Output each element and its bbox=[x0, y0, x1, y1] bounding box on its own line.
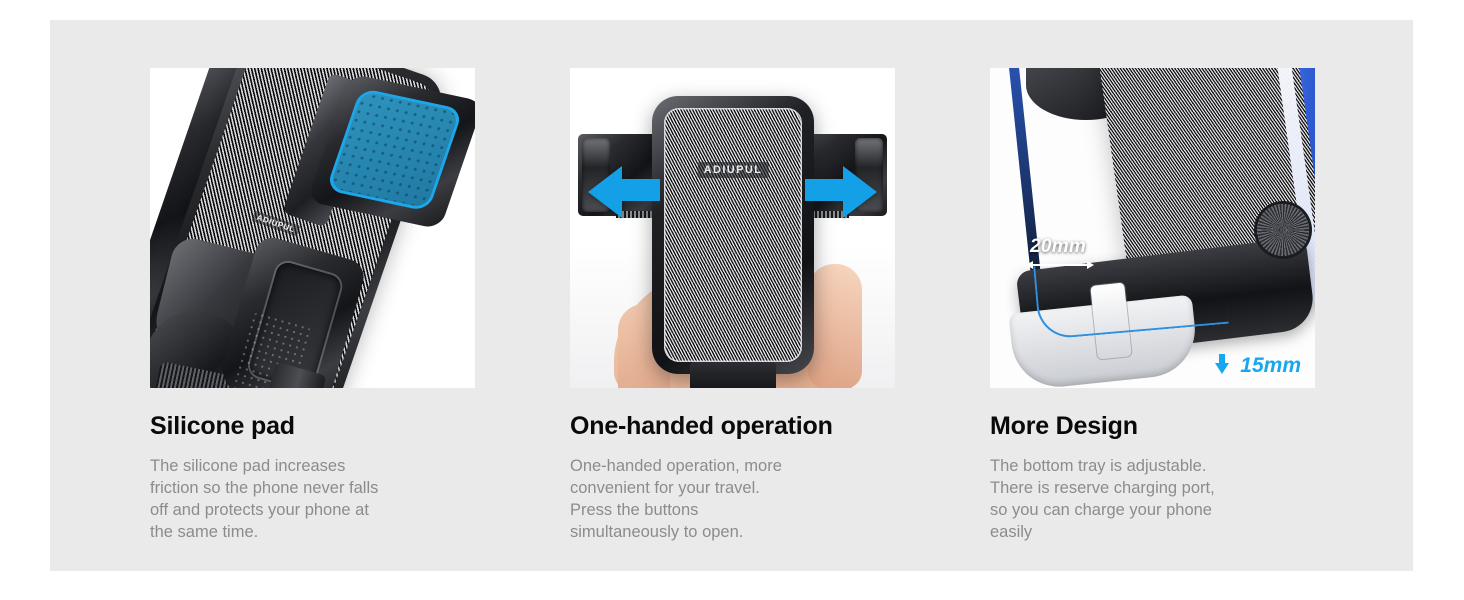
feature-card-more-design: 20mm 15mm More Design The bottom tray is… bbox=[990, 68, 1315, 571]
brand-logo-text: ADIUPUL bbox=[698, 162, 769, 178]
feature-card-silicone-pad: ADIUPUL Silicone pad The silicone pad in… bbox=[150, 68, 475, 571]
feature-description: The bottom tray is adjustable. There is … bbox=[990, 456, 1315, 544]
dimension-arrow-20mm-icon bbox=[1032, 264, 1088, 266]
holder-base bbox=[690, 362, 776, 388]
feature-heading: Silicone pad bbox=[150, 412, 475, 441]
feature-card-one-handed-operation: ADIUPUL One-handed operation One-handed … bbox=[570, 68, 895, 571]
product-photo-silicone-pad: ADIUPUL bbox=[150, 68, 475, 388]
dimension-label-20mm: 20mm bbox=[1030, 236, 1086, 258]
mounted-phone-body: ADIUPUL bbox=[652, 96, 814, 374]
feature-description: One-handed operation, more convenient fo… bbox=[570, 456, 895, 544]
feature-heading: One-handed operation bbox=[570, 412, 895, 441]
adjustment-knob bbox=[1257, 204, 1309, 256]
feature-panel-page: ADIUPUL Silicone pad The silicone pad in… bbox=[0, 0, 1464, 600]
expand-arrow-right-icon bbox=[843, 166, 877, 218]
expand-arrow-left-icon bbox=[588, 166, 622, 218]
feature-heading: More Design bbox=[990, 412, 1315, 441]
feature-columns: ADIUPUL Silicone pad The silicone pad in… bbox=[50, 20, 1413, 571]
feature-description: The silicone pad increases friction so t… bbox=[150, 456, 475, 544]
dimension-arrow-15mm-icon bbox=[1215, 363, 1229, 374]
phone-ribbed-back bbox=[664, 108, 802, 362]
product-photo-more-design: 20mm 15mm bbox=[990, 68, 1315, 388]
product-photo-one-handed: ADIUPUL bbox=[570, 68, 895, 388]
expand-arrow-right-stem bbox=[805, 179, 845, 201]
hand-thumb bbox=[808, 264, 862, 388]
dimension-label-15mm: 15mm bbox=[1240, 354, 1301, 378]
expand-arrow-left-stem bbox=[620, 179, 660, 201]
silicone-pad bbox=[326, 88, 464, 212]
